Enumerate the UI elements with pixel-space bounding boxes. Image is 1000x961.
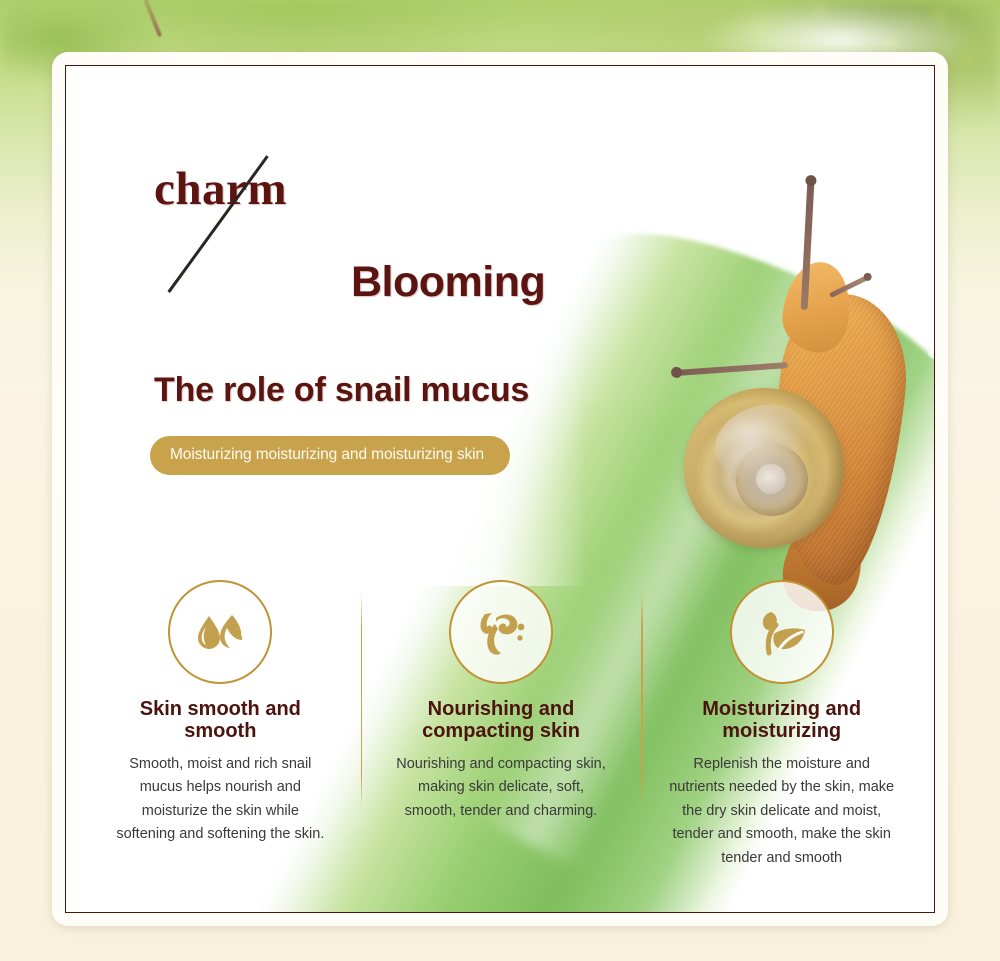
wordmark-charm: charm [154,162,287,216]
snail-shell [684,388,844,548]
snail-illustration [666,166,935,626]
content-card-inner-border: charm Blooming The role of snail mucus M… [65,65,935,913]
feature-title: Nourishing and compacting skin [422,698,580,743]
feature-description: Smooth, moist and rich snail mucus helps… [113,753,328,847]
snail-shell-core [756,464,786,494]
snail-shell-whorl [736,444,808,516]
features-row: Skin smooth and smooth Smooth, moist and… [80,580,922,910]
headline-block: charm Blooming The role of snail mucus M… [66,66,626,486]
wordmark-blooming: Blooming [351,258,545,307]
feature-title: Moisturizing and moisturizing [702,698,861,743]
snail-tentacle-left [676,362,788,376]
snail-body [759,288,915,590]
snail-head [778,258,856,356]
feature-card-nourishing: Nourishing and compacting skin Nourishin… [361,580,642,910]
content-card: charm Blooming The role of snail mucus M… [52,52,948,926]
feature-description: Nourishing and compacting skin, making s… [394,753,609,823]
page-title: The role of snail mucus [154,371,529,410]
water-droplet-icon [928,346,935,360]
feature-card-skin-smooth: Skin smooth and smooth Smooth, moist and… [80,580,361,910]
background-twig [142,0,162,37]
snail-swirl-icon [449,580,553,684]
feature-card-moisturizing: Moisturizing and moisturizing Replenish … [641,580,922,910]
poster-root: charm Blooming The role of snail mucus M… [0,0,1000,961]
feature-description: Replenish the moisture and nutrients nee… [667,753,897,870]
snail-tentacle-short [829,275,869,298]
leaf-sprout-icon [730,580,834,684]
water-droplets-icon [168,580,272,684]
snail-tentacle-upper [801,182,815,310]
status-badge: Moisturizing moisturizing and moisturizi… [150,436,510,475]
feature-title: Skin smooth and smooth [140,698,301,743]
